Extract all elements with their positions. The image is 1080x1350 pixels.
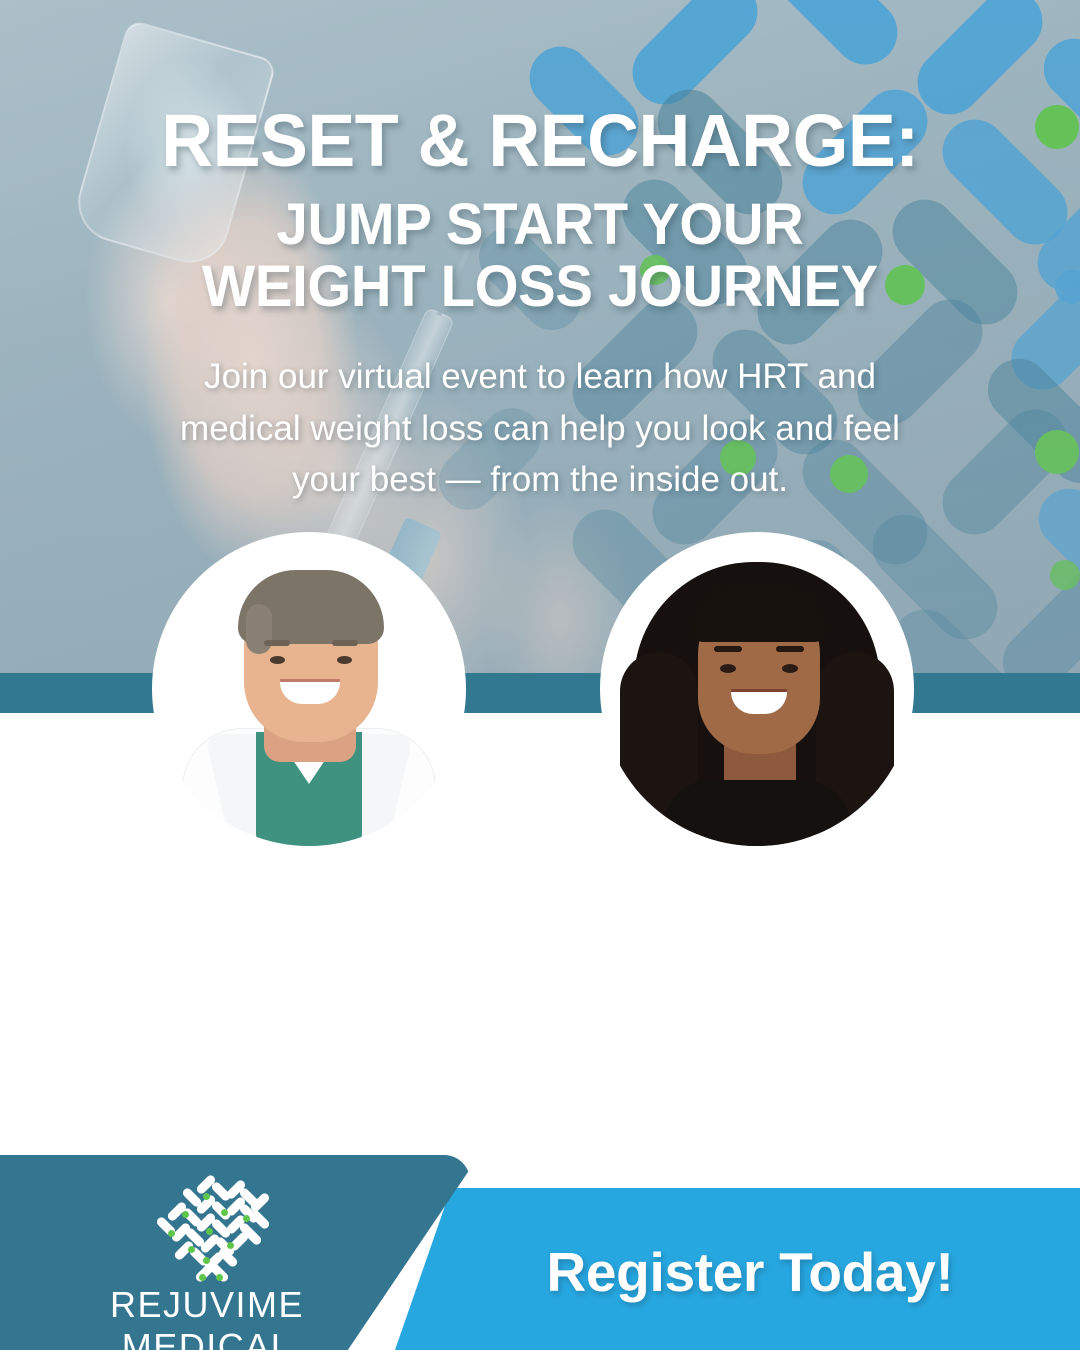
coat-logo-icon — [218, 832, 248, 846]
page-title: RESET & RECHARGE: — [16, 0, 1064, 176]
page-subtitle: JUMP START YOUR WEIGHT LOSS JOURNEY — [16, 176, 1064, 317]
rejuvime-diamond-logo-icon — [142, 1178, 272, 1296]
page-subtitle-line2: WEIGHT LOSS JOURNEY — [16, 256, 1064, 317]
hero-text-block: RESET & RECHARGE: JUMP START YOUR WEIGHT… — [0, 0, 1080, 506]
headshot-rosalind-kenny — [600, 532, 914, 846]
avatar-rosalind-kenny — [600, 532, 914, 846]
hero-description: Join our virtual event to learn how HRT … — [145, 317, 935, 505]
flyer-page: RESET & RECHARGE: JUMP START YOUR WEIGHT… — [0, 0, 1080, 1350]
headshot-dr-jonathan-weiler — [152, 532, 466, 846]
brand-logo: REJUVIME MEDICAL THE AGE DEFYING CLINIC — [22, 1178, 392, 1350]
avatar-dr-jonathan-weiler — [152, 532, 466, 846]
register-today-button[interactable]: Register Today! — [470, 1240, 1030, 1304]
page-subtitle-line1: JUMP START YOUR — [16, 194, 1064, 255]
